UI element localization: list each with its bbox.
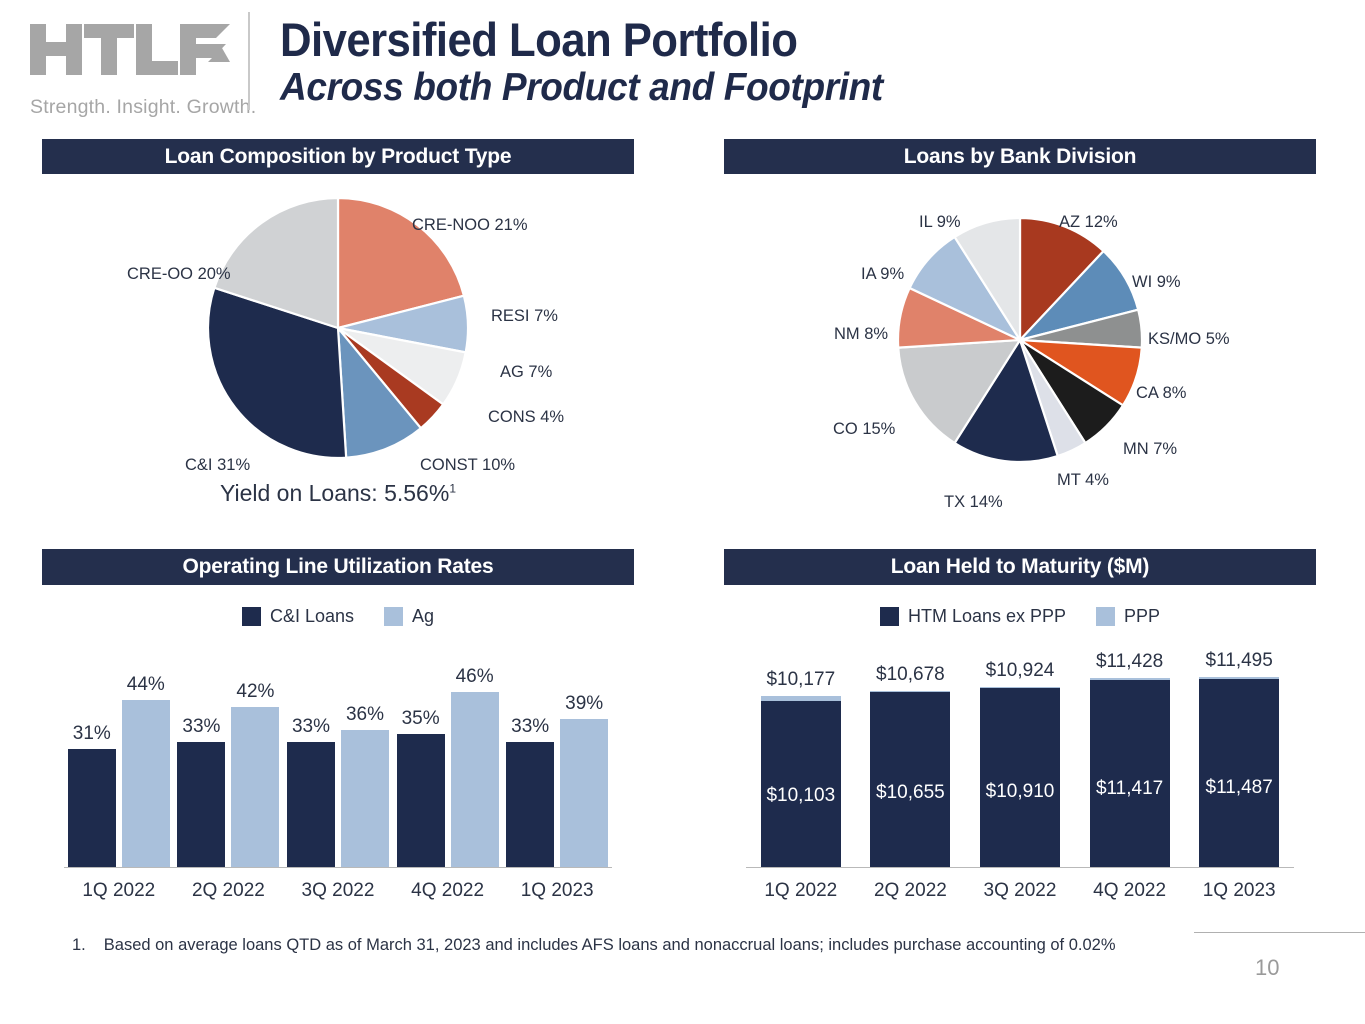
x-axis-tick: 2Q 2022 xyxy=(856,880,966,902)
pie-label-cre-noo: CRE-NOO 21% xyxy=(412,216,528,235)
legend-utilization: C&I Loans Ag xyxy=(42,604,634,628)
pie-label-az: AZ 12% xyxy=(1059,213,1118,232)
legend-label-ci-loans: C&I Loans xyxy=(270,606,354,627)
bar-total-label: $10,177 xyxy=(749,669,853,691)
bar-1q-2022-c-i-loans[interactable] xyxy=(68,749,116,867)
bar-3q-2022-ag[interactable] xyxy=(341,730,389,867)
page-number: 10 xyxy=(1255,955,1279,981)
panel-header-utilization: Operating Line Utilization Rates xyxy=(42,549,634,585)
pie-label-il: IL 9% xyxy=(919,213,961,232)
x-axis-tick: 2Q 2022 xyxy=(174,880,284,902)
yield-on-loans-label: Yield on Loans: 5.56% xyxy=(220,480,449,506)
pie-chart-loan-composition: CRE-NOO 21% RESI 7% AG 7% CONS 4% CONST … xyxy=(42,180,634,540)
bar-1q-2023-c-i-loans[interactable] xyxy=(506,742,554,867)
legend-swatch-icon xyxy=(242,607,261,626)
bar-total-label: $10,678 xyxy=(858,664,962,686)
bar-value-label: 44% xyxy=(116,674,176,696)
legend-htm: HTM Loans ex PPP PPP xyxy=(724,604,1316,628)
bar-1q-2022-ag[interactable] xyxy=(122,700,170,867)
bar-1q-2023-htm-ex-ppp[interactable] xyxy=(1199,679,1279,867)
legend-item-ag[interactable]: Ag xyxy=(384,606,434,627)
legend-swatch-icon xyxy=(880,607,899,626)
legend-item-ppp[interactable]: PPP xyxy=(1096,606,1160,627)
bar-value-label: 33% xyxy=(171,716,231,738)
bar-segment-label: $11,487 xyxy=(1187,777,1291,799)
pie-label-ci: C&I 31% xyxy=(185,456,250,475)
pie-label-co: CO 15% xyxy=(833,420,895,439)
bar-2q-2022-ag[interactable] xyxy=(231,707,279,867)
legend-label-ppp: PPP xyxy=(1124,606,1160,627)
x-axis-tick: 1Q 2022 xyxy=(64,880,174,902)
x-axis-tick: 4Q 2022 xyxy=(393,880,503,902)
pie-label-cre-oo: CRE-OO 20% xyxy=(127,265,231,284)
slide-header: Strength. Insight. Growth. Diversified L… xyxy=(0,0,1365,130)
yield-on-loans-annotation: Yield on Loans: 5.56%1 xyxy=(42,480,634,507)
bar-1q-2023-ppp[interactable] xyxy=(1199,677,1279,679)
x-axis-tick: 4Q 2022 xyxy=(1075,880,1185,902)
bar-segment-label: $10,655 xyxy=(858,782,962,804)
panel-header-bank-division: Loans by Bank Division xyxy=(724,139,1316,174)
bar-chart-htm: $10,177$10,1031Q 2022$10,678$10,6552Q 20… xyxy=(724,630,1316,910)
pie-label-const: CONST 10% xyxy=(420,456,515,475)
pie-label-ag: AG 7% xyxy=(500,363,552,382)
x-axis-tick: 1Q 2022 xyxy=(746,880,856,902)
pie-label-tx: TX 14% xyxy=(944,493,1003,512)
htlf-wordmark-icon xyxy=(30,22,230,77)
x-axis-tick: 1Q 2023 xyxy=(502,880,612,902)
pie-chart-bank-division: AZ 12% WI 9% KS/MO 5% CA 8% MN 7% MT 4% … xyxy=(724,180,1316,540)
bar-value-label: 46% xyxy=(445,666,505,688)
pie-label-mt: MT 4% xyxy=(1057,471,1109,490)
htlf-logo: Strength. Insight. Growth. xyxy=(22,18,240,110)
bar-4q-2022-ppp[interactable] xyxy=(1090,678,1170,680)
bar-segment-label: $10,103 xyxy=(749,785,853,807)
page-number-rule xyxy=(1194,932,1365,933)
bar-2q-2022-c-i-loans[interactable] xyxy=(177,742,225,867)
x-axis-tick: 3Q 2022 xyxy=(965,880,1075,902)
bar-value-label: 33% xyxy=(500,716,560,738)
bar-4q-2022-htm-ex-ppp[interactable] xyxy=(1090,680,1170,867)
pie-label-ca: CA 8% xyxy=(1136,384,1186,403)
bar-value-label: 42% xyxy=(225,681,285,703)
bar-chart-utilization: 31%44%1Q 202233%42%2Q 202233%36%3Q 20223… xyxy=(42,630,634,910)
page-subtitle: Across both Product and Footprint xyxy=(280,67,883,110)
bar-3q-2022-ppp[interactable] xyxy=(980,687,1060,689)
bar-3q-2022-c-i-loans[interactable] xyxy=(287,742,335,867)
footnote-number: 1. xyxy=(72,934,86,956)
x-axis-tick: 3Q 2022 xyxy=(283,880,393,902)
panel-header-htm: Loan Held to Maturity ($M) xyxy=(724,549,1316,585)
footnote-text: Based on average loans QTD as of March 3… xyxy=(104,934,1122,956)
bar-value-label: 39% xyxy=(554,693,614,715)
bar-total-label: $11,495 xyxy=(1187,650,1291,672)
pie-label-ia: IA 9% xyxy=(861,265,904,284)
pie-label-nm: NM 8% xyxy=(834,325,888,344)
bar-2q-2022-htm-ex-ppp[interactable] xyxy=(870,692,950,867)
bar-1q-2022-htm-ex-ppp[interactable] xyxy=(761,701,841,867)
legend-swatch-icon xyxy=(1096,607,1115,626)
bar-value-label: 36% xyxy=(335,704,395,726)
pie-label-ksmo: KS/MO 5% xyxy=(1148,330,1230,349)
legend-item-ci-loans[interactable]: C&I Loans xyxy=(242,606,354,627)
bar-2q-2022-ppp[interactable] xyxy=(870,691,950,693)
bar-total-label: $11,428 xyxy=(1078,651,1182,673)
bar-value-label: 31% xyxy=(62,723,122,745)
x-axis-tick: 1Q 2023 xyxy=(1184,880,1294,902)
pie-label-cons: CONS 4% xyxy=(488,408,564,427)
page-title: Diversified Loan Portfolio xyxy=(280,16,870,65)
bar-4q-2022-c-i-loans[interactable] xyxy=(397,734,445,867)
legend-label-ag: Ag xyxy=(412,606,434,627)
bar-1q-2023-ag[interactable] xyxy=(560,719,608,867)
pie-product-svg xyxy=(42,180,634,480)
legend-swatch-icon xyxy=(384,607,403,626)
legend-label-htm-ex-ppp: HTM Loans ex PPP xyxy=(908,606,1066,627)
bar-value-label: 35% xyxy=(391,708,451,730)
yield-footnote-ref: 1 xyxy=(449,481,456,495)
bar-segment-label: $10,910 xyxy=(968,781,1072,803)
bar-4q-2022-ag[interactable] xyxy=(451,692,499,867)
bar-3q-2022-htm-ex-ppp[interactable] xyxy=(980,688,1060,867)
bar-1q-2022-ppp[interactable] xyxy=(761,696,841,701)
pie-label-mn: MN 7% xyxy=(1123,440,1177,459)
bar-value-label: 33% xyxy=(281,716,341,738)
bar-total-label: $10,924 xyxy=(968,660,1072,682)
footnote: 1. Based on average loans QTD as of Marc… xyxy=(72,934,1122,956)
brand-tagline: Strength. Insight. Growth. xyxy=(30,96,256,119)
panel-header-product-type: Loan Composition by Product Type xyxy=(42,139,634,174)
bar-segment-label: $11,417 xyxy=(1078,778,1182,800)
legend-item-htm-ex-ppp[interactable]: HTM Loans ex PPP xyxy=(880,606,1066,627)
pie-label-resi: RESI 7% xyxy=(491,307,558,326)
title-block: Diversified Loan Portfolio Across both P… xyxy=(280,16,915,110)
pie-label-wi: WI 9% xyxy=(1132,273,1181,292)
header-divider xyxy=(248,12,250,110)
